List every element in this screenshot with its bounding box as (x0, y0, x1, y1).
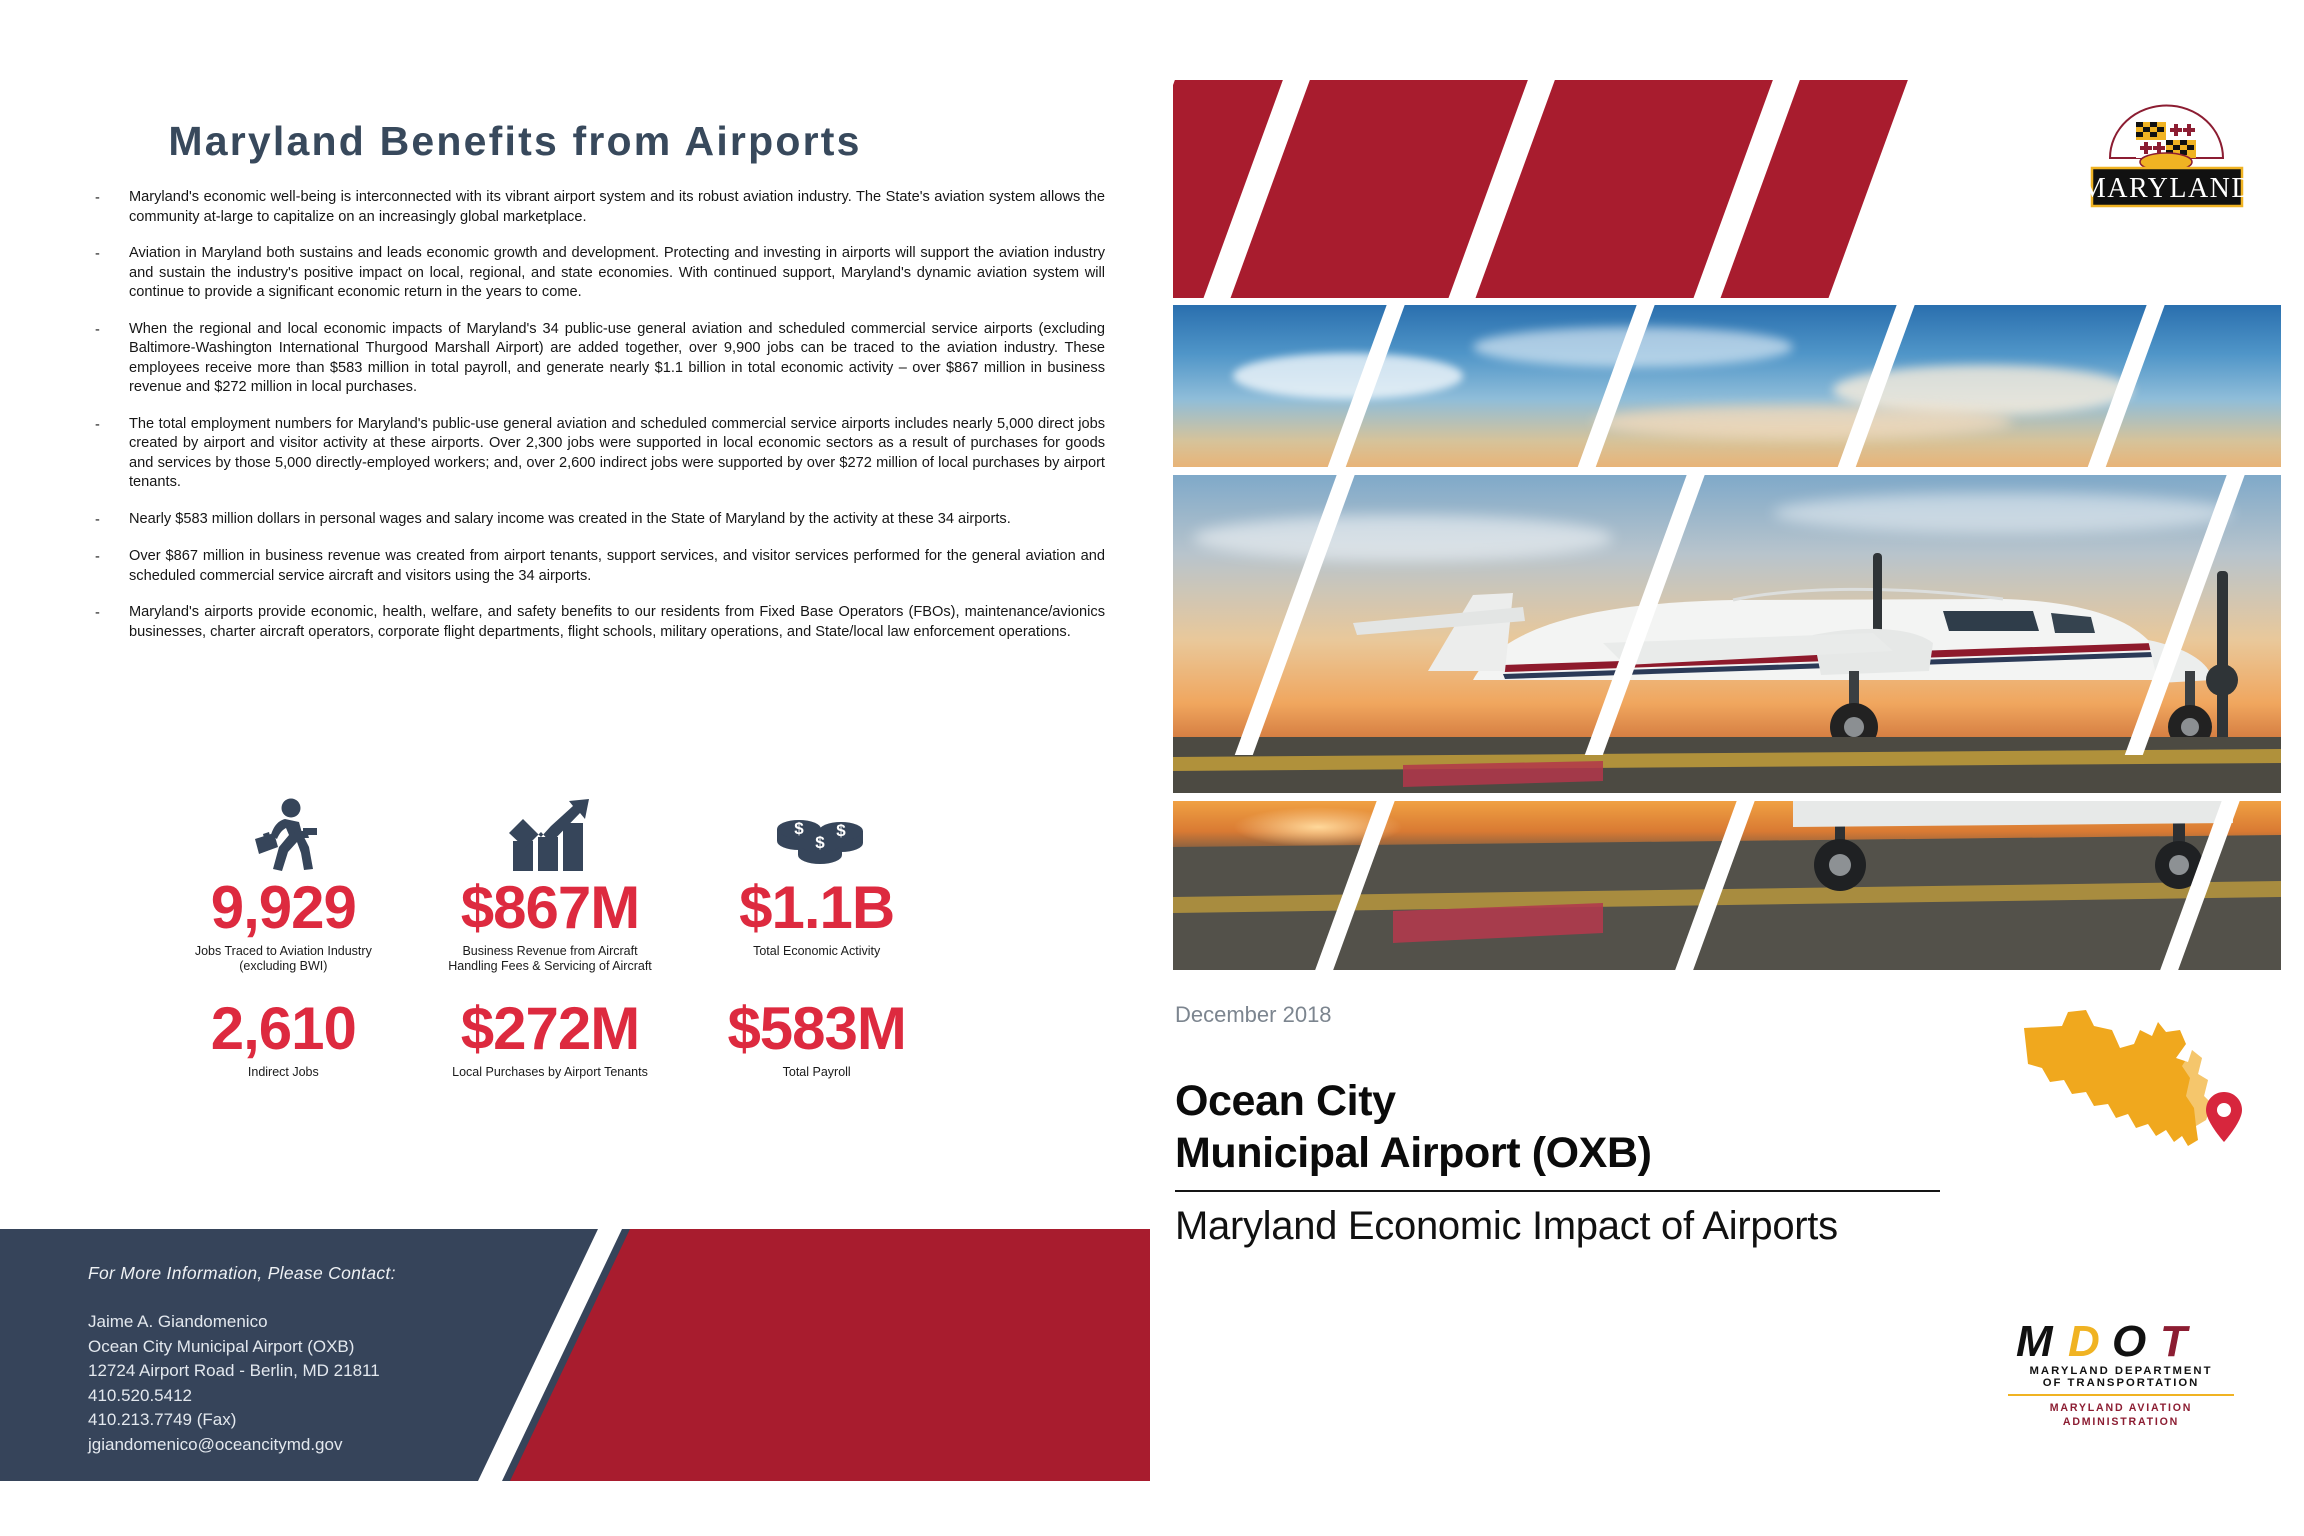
mdot-divider (2008, 1394, 2234, 1396)
left-content-panel: Maryland Benefits from Airports -Marylan… (0, 0, 1150, 1536)
bullet-text: The total employment numbers for Marylan… (129, 415, 1105, 493)
publication-date: December 2018 (1175, 1002, 1332, 1028)
photo-strip-sky (1173, 305, 2281, 467)
stat-label: Business Revenue from AircraftHandling F… (417, 944, 684, 974)
airport-name: Ocean City Municipal Airport (OXB) (1175, 1075, 1955, 1179)
mdot-line-1: MARYLAND DEPARTMENT (1990, 1365, 2252, 1377)
bullet-item: -The total employment numbers for Maryla… (95, 415, 1105, 493)
bullet-item: -When the regional and local economic im… (95, 320, 1105, 398)
svg-text:T: T (2160, 1318, 2190, 1364)
bullet-text: Maryland's airports provide economic, he… (129, 603, 1105, 642)
bullet-marker: - (95, 320, 129, 398)
stat-indirect-jobs: 2,610 Indirect Jobs (150, 996, 417, 1080)
bullet-text: Nearly $583 million dollars in personal … (129, 510, 1105, 531)
turboprop-aircraft-image (1173, 475, 2281, 793)
bullet-item: -Maryland's airports provide economic, h… (95, 603, 1105, 642)
stat-label: Indirect Jobs (150, 1065, 417, 1080)
mdot-line-3: MARYLAND AVIATIONADMINISTRATION (1990, 1401, 2252, 1429)
bullet-text: Maryland's economic well-being is interc… (129, 188, 1105, 227)
airport-name-line-2: Municipal Airport (OXB) (1175, 1127, 1955, 1179)
stat-label: Local Purchases by Airport Tenants (417, 1065, 684, 1080)
money-coins-icon: $ $ $ (683, 790, 950, 875)
contact-line: Jaime A. Giandomenico (88, 1310, 608, 1335)
stat-business-revenue: $867M Business Revenue from AircraftHand… (417, 790, 684, 974)
contact-line: Ocean City Municipal Airport (OXB) (88, 1335, 608, 1360)
photo-strip-aircraft (1173, 475, 2281, 793)
airport-photo-collage (1173, 305, 2281, 970)
stat-label: Jobs Traced to Aviation Industry(excludi… (150, 944, 417, 974)
stat-value: 2,610 (150, 996, 417, 1062)
svg-text:M: M (2016, 1318, 2054, 1364)
stat-label: Total Payroll (683, 1065, 950, 1080)
bullet-text: When the regional and local economic imp… (129, 320, 1105, 398)
running-businessman-icon (150, 790, 417, 875)
bullet-marker: - (95, 415, 129, 493)
cover-subtitle: Maryland Economic Impact of Airports (1175, 1199, 1838, 1253)
bullet-item: -Nearly $583 million dollars in personal… (95, 510, 1105, 531)
page-title: Maryland Benefits from Airports (0, 118, 1030, 165)
contact-line: jgiandomenico@oceancitymd.gov (88, 1433, 608, 1458)
bullet-marker: - (95, 510, 129, 531)
mdot-line-2: OF TRANSPORTATION (1990, 1377, 2252, 1389)
stat-total-economic-activity: $ $ $ $1.1B Total Economic Activity (683, 790, 950, 974)
growth-chart-icon (417, 790, 684, 875)
maryland-map-icon (2016, 1000, 2256, 1175)
brochure-page: Maryland Benefits from Airports -Marylan… (0, 0, 2304, 1536)
svg-text:$: $ (836, 821, 846, 840)
airport-name-line-1: Ocean City (1175, 1075, 1955, 1127)
contact-line: 12724 Airport Road - Berlin, MD 21811 (88, 1359, 608, 1384)
bullet-marker: - (95, 603, 129, 642)
stat-local-purchases: $272M Local Purchases by Airport Tenants (417, 996, 684, 1080)
svg-text:O: O (2112, 1318, 2146, 1364)
right-cover-panel: MARYLAND (1150, 0, 2304, 1536)
maryland-wordmark: MARYLAND (2081, 173, 2253, 204)
mdot-logo: M D O T MARYLAND DEPARTMENT OF TRANSPORT… (1990, 1318, 2252, 1429)
statistics-section: 9,929 Jobs Traced to Aviation Industry(e… (150, 790, 950, 1080)
bullet-text: Aviation in Maryland both sustains and l… (129, 244, 1105, 303)
bullet-marker: - (95, 188, 129, 227)
bullet-text: Over $867 million in business revenue wa… (129, 547, 1105, 586)
contact-block: For More Information, Please Contact: Ja… (88, 1263, 608, 1457)
stat-value: $583M (683, 996, 950, 1062)
map-pin-icon (2206, 1092, 2242, 1142)
bullet-item: -Aviation in Maryland both sustains and … (95, 244, 1105, 303)
svg-text:$: $ (815, 833, 825, 852)
bullet-marker: - (95, 244, 129, 303)
stat-value: $1.1B (683, 875, 950, 941)
mdot-wordmark: M D O T (1990, 1318, 2252, 1362)
contact-lines: Jaime A. GiandomenicoOcean City Municipa… (88, 1310, 608, 1457)
benefits-bullet-list: -Maryland's economic well-being is inter… (95, 188, 1105, 659)
bullet-item: -Over $867 million in business revenue w… (95, 547, 1105, 586)
maryland-state-logo: MARYLAND (2074, 100, 2259, 210)
stat-value: 9,929 (150, 875, 417, 941)
cloud-shape (1593, 405, 2013, 439)
contact-line: 410.213.7749 (Fax) (88, 1408, 608, 1433)
svg-text:$: $ (794, 819, 804, 838)
stat-row-bottom: 2,610 Indirect Jobs $272M Local Purchase… (150, 996, 950, 1080)
bullet-marker: - (95, 547, 129, 586)
bullet-item: -Maryland's economic well-being is inter… (95, 188, 1105, 227)
stat-total-payroll: $583M Total Payroll (683, 996, 950, 1080)
contact-heading: For More Information, Please Contact: (88, 1263, 608, 1284)
stat-row-top: 9,929 Jobs Traced to Aviation Industry(e… (150, 790, 950, 974)
stat-label: Total Economic Activity (683, 944, 950, 959)
stat-jobs-traced: 9,929 Jobs Traced to Aviation Industry(e… (150, 790, 417, 974)
stat-value: $272M (417, 996, 684, 1062)
title-divider (1175, 1190, 1940, 1192)
stat-value: $867M (417, 875, 684, 941)
cloud-shape (1233, 353, 1463, 399)
photo-strip-tarmac (1173, 801, 2281, 970)
contact-line: 410.520.5412 (88, 1384, 608, 1409)
